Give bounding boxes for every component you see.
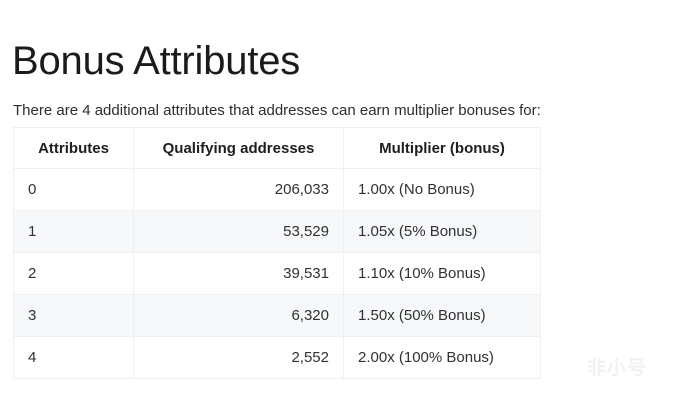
- cell-attributes: 0: [14, 169, 134, 211]
- table-header: Attributes Qualifying addresses Multipli…: [14, 128, 541, 169]
- cell-qualifying-addresses: 2,552: [134, 337, 344, 379]
- table-row: 4 2,552 2.00x (100% Bonus): [14, 337, 541, 379]
- table-row: 3 6,320 1.50x (50% Bonus): [14, 295, 541, 337]
- column-header-multiplier: Multiplier (bonus): [344, 128, 541, 169]
- cell-qualifying-addresses: 53,529: [134, 211, 344, 253]
- table-row: 0 206,033 1.00x (No Bonus): [14, 169, 541, 211]
- column-header-attributes: Attributes: [14, 128, 134, 169]
- cell-attributes: 4: [14, 337, 134, 379]
- column-header-qualifying-addresses: Qualifying addresses: [134, 128, 344, 169]
- cell-qualifying-addresses: 6,320: [134, 295, 344, 337]
- intro-paragraph: There are 4 additional attributes that a…: [13, 100, 541, 122]
- cell-multiplier: 1.50x (50% Bonus): [344, 295, 541, 337]
- cell-multiplier: 2.00x (100% Bonus): [344, 337, 541, 379]
- page-root: Bonus Attributes There are 4 additional …: [0, 0, 687, 404]
- cell-multiplier: 1.00x (No Bonus): [344, 169, 541, 211]
- table-row: 2 39,531 1.10x (10% Bonus): [14, 253, 541, 295]
- cell-qualifying-addresses: 39,531: [134, 253, 344, 295]
- table-body: 0 206,033 1.00x (No Bonus) 1 53,529 1.05…: [14, 169, 541, 379]
- cell-qualifying-addresses: 206,033: [134, 169, 344, 211]
- site-watermark: 非小号: [587, 358, 647, 380]
- table-row: 1 53,529 1.05x (5% Bonus): [14, 211, 541, 253]
- cell-attributes: 1: [14, 211, 134, 253]
- page-title: Bonus Attributes: [12, 35, 300, 87]
- bonus-attributes-table: Attributes Qualifying addresses Multipli…: [13, 127, 541, 379]
- table-header-row: Attributes Qualifying addresses Multipli…: [14, 128, 541, 169]
- cell-multiplier: 1.10x (10% Bonus): [344, 253, 541, 295]
- cell-attributes: 2: [14, 253, 134, 295]
- cell-attributes: 3: [14, 295, 134, 337]
- cell-multiplier: 1.05x (5% Bonus): [344, 211, 541, 253]
- bonus-attributes-table-container: Attributes Qualifying addresses Multipli…: [13, 127, 540, 379]
